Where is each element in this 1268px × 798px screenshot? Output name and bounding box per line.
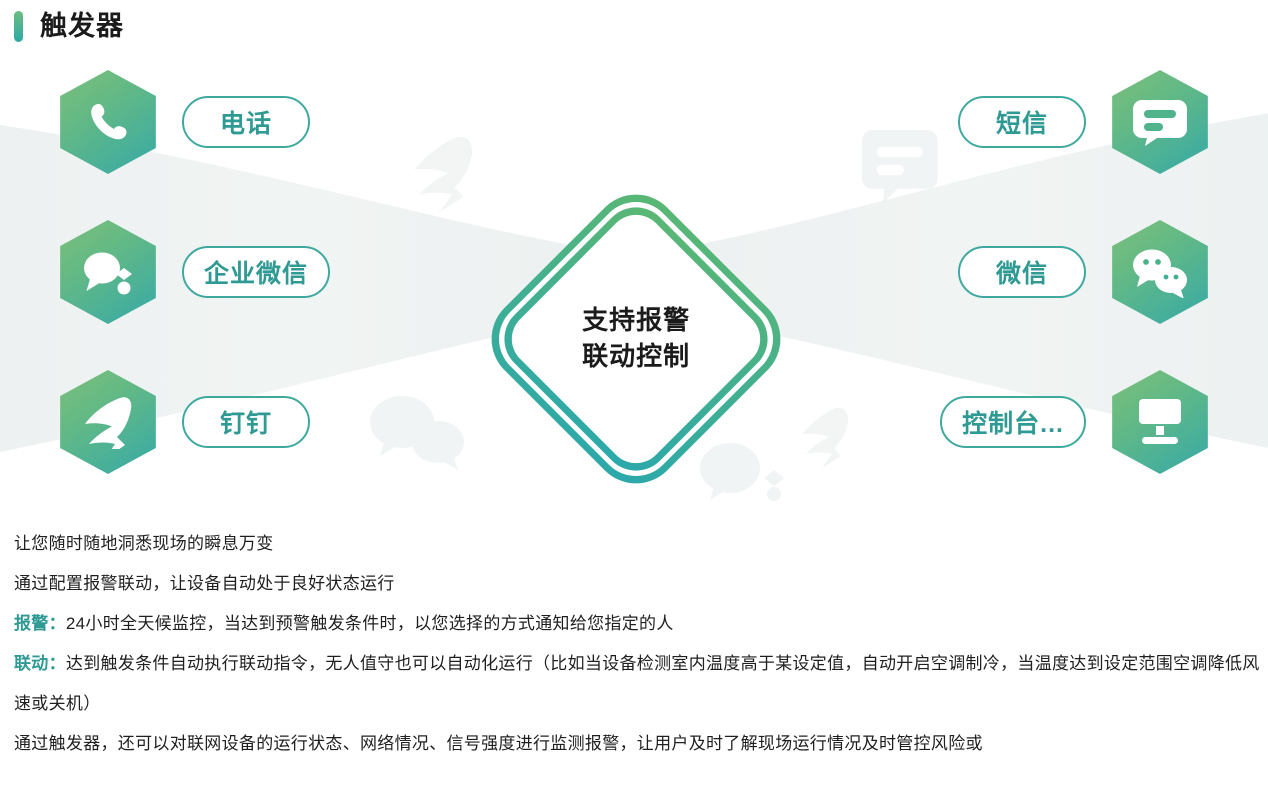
- paragraph-3-text: 24小时全天候监控，当达到预警触发条件时，以您选择的方式通知给您指定的人: [66, 614, 674, 633]
- node-sms[interactable]: 短信: [936, 70, 1212, 174]
- monitor-icon: [1108, 370, 1212, 474]
- paragraph-4: 联动：达到触发条件自动执行联动指令，无人值守也可以自动化运行（比如当设备检测室内…: [14, 644, 1268, 724]
- paragraph-2-text: 通过配置报警联动，让设备自动处于良好状态运行: [14, 574, 395, 593]
- trigger-diagram: 电话 企业微信 钉钉: [0, 52, 1268, 504]
- paragraph-4-lead: 联动：: [14, 654, 66, 673]
- watermark-dingtalk-icon: [415, 137, 473, 212]
- watermark-wecom-icon: [700, 443, 784, 501]
- node-wechat[interactable]: 微信: [936, 220, 1212, 324]
- paragraph-5-text: 通过触发器，还可以对联网设备的运行状态、网络情况、信号强度进行监测报警，让用户及…: [14, 734, 983, 753]
- description-body: 让您随时随地洞悉现场的瞬息万变 通过配置报警联动，让设备自动处于良好状态运行 报…: [14, 524, 1268, 764]
- page-title-text: 触发器: [40, 13, 124, 40]
- node-phone[interactable]: 电话: [56, 70, 332, 174]
- paragraph-5: 通过触发器，还可以对联网设备的运行状态、网络情况、信号强度进行监测报警，让用户及…: [14, 724, 1268, 764]
- node-dingtalk-label[interactable]: 钉钉: [182, 396, 310, 448]
- paragraph-3-lead: 报警：: [14, 614, 66, 633]
- sms-bubble-icon: [1108, 70, 1212, 174]
- node-dingtalk[interactable]: 钉钉: [56, 370, 332, 474]
- center-diamond-label: 支持报警 联动控制: [582, 303, 690, 375]
- watermark-dingtalk-icon-2: [802, 408, 848, 468]
- phone-icon: [56, 70, 160, 174]
- wecom-icon: [56, 220, 160, 324]
- center-line-1: 支持报警: [582, 303, 690, 339]
- node-wecom[interactable]: 企业微信: [56, 220, 352, 324]
- dingtalk-icon: [56, 370, 160, 474]
- paragraph-1: 让您随时随地洞悉现场的瞬息万变: [14, 524, 1268, 564]
- paragraph-2: 通过配置报警联动，让设备自动处于良好状态运行: [14, 564, 1268, 604]
- center-line-2: 联动控制: [582, 339, 690, 375]
- paragraph-3: 报警：24小时全天候监控，当达到预警触发条件时，以您选择的方式通知给您指定的人: [14, 604, 1268, 644]
- paragraph-1-text: 让您随时随地洞悉现场的瞬息万变: [14, 534, 274, 553]
- page-title: 触发器: [14, 4, 124, 48]
- node-phone-label[interactable]: 电话: [182, 96, 310, 148]
- paragraph-4-text: 达到触发条件自动执行联动指令，无人值守也可以自动化运行（比如当设备检测室内温度高…: [14, 654, 1260, 713]
- node-wecom-label[interactable]: 企业微信: [182, 246, 330, 298]
- title-accent-bar: [14, 11, 23, 42]
- watermark-wechat-icon: [370, 396, 464, 470]
- node-wechat-label[interactable]: 微信: [958, 246, 1086, 298]
- node-sms-label[interactable]: 短信: [958, 96, 1086, 148]
- trigger-feature-page: 触发器: [0, 0, 1268, 798]
- node-console[interactable]: 控制台...: [918, 370, 1212, 474]
- wechat-icon: [1108, 220, 1212, 324]
- node-console-label[interactable]: 控制台...: [940, 396, 1086, 448]
